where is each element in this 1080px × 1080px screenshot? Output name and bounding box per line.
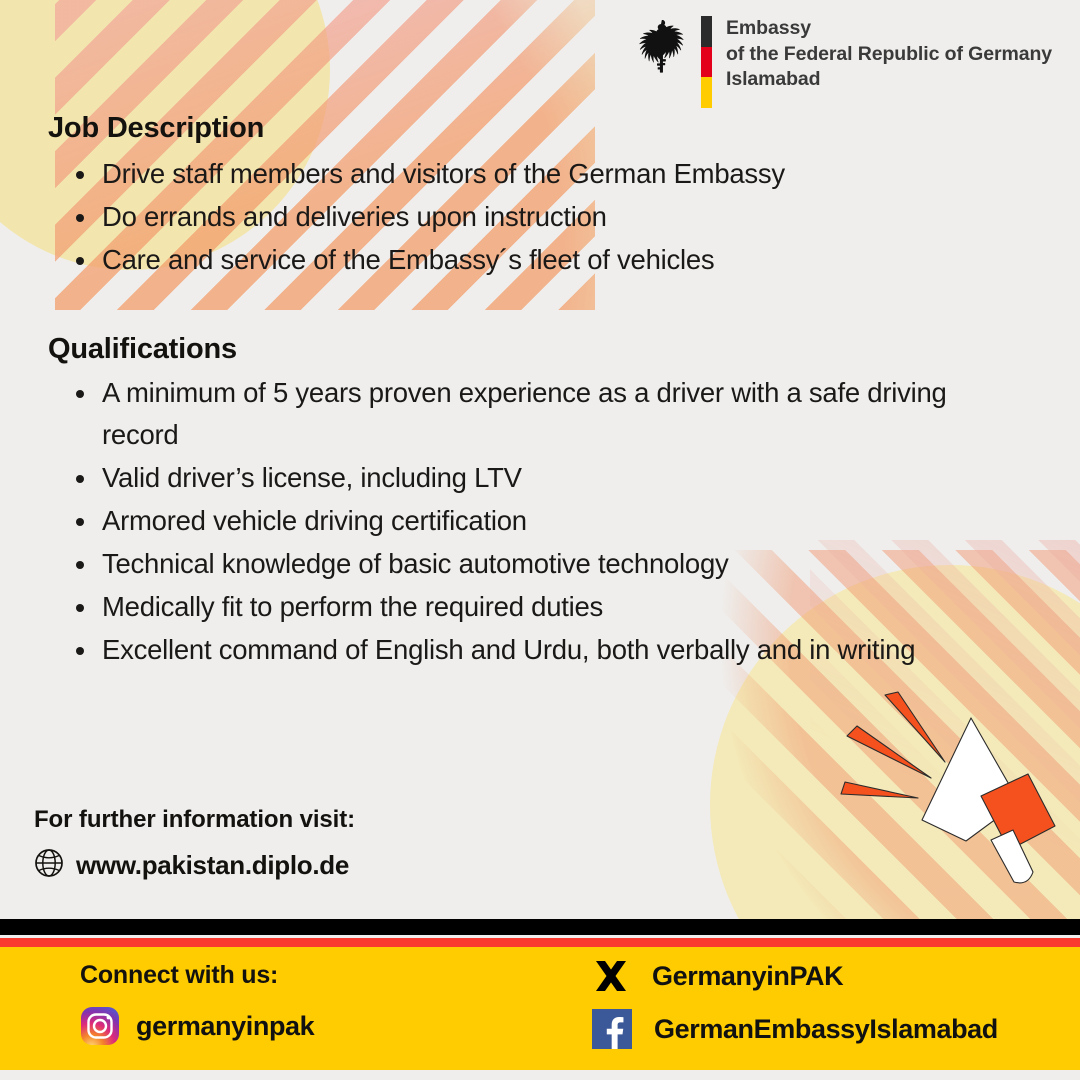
x-twitter-icon[interactable] bbox=[592, 957, 630, 995]
instagram-handle[interactable]: germanyinpak bbox=[136, 1011, 314, 1042]
list-item: Excellent command of English and Urdu, b… bbox=[48, 629, 1008, 671]
megaphone-icon bbox=[823, 690, 1058, 905]
german-federal-eagle-icon bbox=[635, 20, 687, 76]
list-item: Drive staff members and visitors of the … bbox=[48, 153, 1008, 195]
embassy-logo: Embassy of the Federal Republic of Germa… bbox=[635, 16, 1052, 108]
list-item: Do errands and deliveries upon instructi… bbox=[48, 196, 1008, 238]
instagram-icon[interactable] bbox=[80, 1006, 120, 1046]
flag-stripe-red bbox=[0, 938, 1080, 947]
list-item: Care and service of the Embassy´s fleet … bbox=[48, 239, 1008, 281]
facebook-handle[interactable]: GermanEmbassyIslamabad bbox=[654, 1014, 998, 1045]
facebook-row[interactable]: GermanEmbassyIslamabad bbox=[592, 1009, 998, 1049]
qualifications-list: A minimum of 5 years proven experience a… bbox=[48, 372, 1008, 671]
website-url[interactable]: www.pakistan.diplo.de bbox=[76, 850, 349, 881]
list-item: Technical knowledge of basic automotive … bbox=[48, 543, 1008, 585]
footer-bar: Connect with us: bbox=[0, 947, 1080, 1070]
qualifications-title: Qualifications bbox=[48, 333, 1008, 366]
list-item: Medically fit to perform the required du… bbox=[48, 586, 1008, 628]
further-information-title: For further information visit: bbox=[34, 806, 355, 834]
instagram-row[interactable]: germanyinpak bbox=[80, 1006, 314, 1046]
logo-line-3: Islamabad bbox=[726, 67, 1052, 93]
globe-icon bbox=[34, 848, 64, 883]
german-flag-bar bbox=[701, 16, 712, 108]
footer-left-column: Connect with us: bbox=[80, 961, 314, 1046]
list-item: A minimum of 5 years proven experience a… bbox=[48, 372, 1008, 456]
further-information-block: For further information visit: www.pakis… bbox=[34, 806, 355, 883]
x-row[interactable]: GermanyinPAK bbox=[592, 957, 998, 995]
job-description-title: Job Description bbox=[48, 112, 1008, 145]
flag-stripe-black bbox=[0, 919, 1080, 935]
list-item: Valid driver’s license, including LTV bbox=[48, 457, 1008, 499]
logo-line-1: Embassy bbox=[726, 16, 1052, 42]
facebook-icon[interactable] bbox=[592, 1009, 632, 1049]
logo-line-2: of the Federal Republic of Germany bbox=[726, 42, 1052, 68]
poster-canvas: Embassy of the Federal Republic of Germa… bbox=[0, 0, 1080, 1080]
poster-content: Job Description Drive staff members and … bbox=[48, 112, 1008, 675]
job-description-list: Drive staff members and visitors of the … bbox=[48, 153, 1008, 281]
section-job-description: Job Description Drive staff members and … bbox=[48, 112, 1008, 281]
section-qualifications: Qualifications A minimum of 5 years prov… bbox=[48, 333, 1008, 671]
website-row[interactable]: www.pakistan.diplo.de bbox=[34, 848, 355, 883]
footer-right-column: GermanyinPAK GermanEmbassyIslamabad bbox=[592, 957, 998, 1063]
x-handle[interactable]: GermanyinPAK bbox=[652, 961, 843, 992]
list-item: Armored vehicle driving certification bbox=[48, 500, 1008, 542]
connect-with-us-label: Connect with us: bbox=[80, 961, 314, 990]
